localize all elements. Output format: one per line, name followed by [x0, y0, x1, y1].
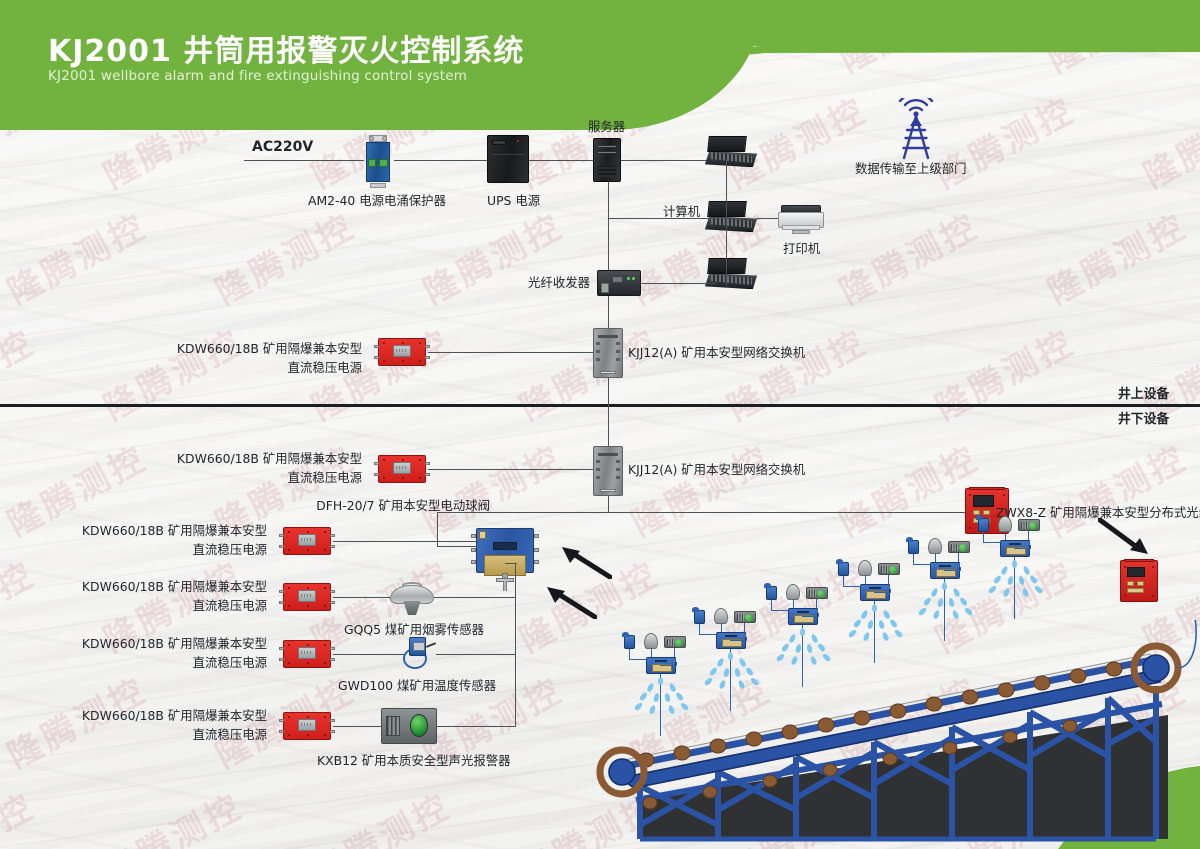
node-link-smoke: [935, 553, 936, 562]
water-droplet: [810, 633, 819, 643]
wire-converter-to-pc3: [641, 283, 716, 284]
water-droplet: [878, 620, 885, 630]
ps2-label-l2: 直流稳压电源: [55, 597, 267, 615]
node-link-temp: [699, 624, 700, 634]
underground-power-supply-0: [378, 455, 426, 483]
printer-label: 打印机: [783, 240, 820, 258]
water-droplet: [993, 574, 1002, 584]
node-alarm-icon: [734, 611, 756, 623]
wire-ps4-to-alarm: [333, 726, 382, 727]
node-smoke-sensor-icon: [998, 516, 1012, 532]
node-smoke-sensor-icon: [714, 608, 728, 624]
water-droplet: [723, 668, 730, 678]
wire-switch-to-host: [609, 512, 965, 513]
ps4-label-l2: 直流稳压电源: [55, 726, 267, 744]
node-link-alarm: [674, 648, 675, 657]
wire-temp-to-riser: [436, 654, 516, 655]
water-droplet: [716, 657, 725, 667]
ps2-label-l1: KDW660/18B 矿用隔爆兼本安型: [55, 578, 267, 596]
water-droplet: [1029, 574, 1038, 584]
water-droplet: [728, 652, 733, 660]
node-link-alarm-h: [944, 570, 961, 571]
water-droplet: [1012, 560, 1017, 568]
water-droplet: [951, 609, 959, 619]
node-link-temp-h: [629, 659, 647, 660]
ps0-label-l1: KDW660/18B 矿用隔爆兼本安型: [150, 450, 362, 468]
page-title: KJ2001 井筒用报警灭火控制系统: [48, 26, 524, 70]
above-ground-label: 井上设备: [1118, 386, 1169, 404]
node-temp-sensor-icon: [908, 540, 919, 554]
water-droplet: [675, 691, 684, 701]
water-droplet: [653, 693, 660, 703]
temp-sensor-label: GWD100 煤矿用温度传感器: [338, 677, 496, 695]
ground-level-divider: [0, 404, 1200, 407]
water-droplet: [718, 679, 726, 689]
sprinkler-node: [766, 586, 836, 696]
power-input-label: AC220V: [252, 138, 313, 156]
node-link-smoke: [1005, 531, 1006, 540]
water-droplet: [781, 642, 790, 652]
header-curve-shape: [560, 0, 1200, 131]
water-droplet: [918, 607, 928, 617]
node-link-temp: [843, 576, 844, 586]
node-alarm-icon: [806, 587, 828, 599]
ps1-label-l2: 直流稳压电源: [55, 541, 267, 559]
ball-valve-device: [476, 528, 534, 590]
water-droplet: [750, 677, 760, 687]
wire-ps1-to-valve: [333, 541, 478, 542]
water-droplet: [867, 620, 874, 630]
node-smoke-sensor-icon: [928, 538, 942, 554]
node-temp-sensor-icon: [624, 635, 635, 649]
water-droplet: [860, 609, 869, 619]
sprinkler-node: [978, 518, 1048, 628]
wire-server-to-converter: [608, 182, 609, 284]
computer-1: [705, 136, 757, 170]
wire-switch-down: [608, 496, 609, 512]
server-device: [593, 138, 621, 182]
water-droplet: [942, 582, 947, 590]
water-droplet: [1018, 576, 1025, 586]
node-link-alarm-h: [660, 665, 677, 666]
water-droplet: [745, 666, 754, 676]
node-link-alarm: [1028, 531, 1029, 540]
water-droplet: [959, 596, 968, 606]
ball-valve-label: DFH-20/7 矿用本安型电动球阀: [290, 497, 490, 515]
surface-power-supply-device: [378, 338, 426, 366]
temp-sensor-device: [402, 634, 436, 670]
sprinkler-node: [838, 562, 908, 672]
node-temp-sensor-icon: [694, 610, 705, 624]
wire-server-branch-pc2: [608, 218, 716, 219]
server-label: 服务器: [588, 118, 625, 136]
water-droplet: [882, 609, 891, 619]
wire-computer-column: [726, 160, 727, 286]
conveyor-pulley-tail: [600, 750, 644, 794]
water-droplet: [1022, 565, 1031, 575]
ps0-label-l2: 直流稳压电源: [150, 469, 362, 487]
computer-3: [705, 258, 757, 292]
surge-protector-device: [362, 134, 394, 188]
water-droplet: [822, 653, 832, 663]
water-droplet: [862, 631, 870, 641]
wire-ups-to-server: [529, 160, 594, 161]
surge-protector-label: AM2-40 电源电涌保护器: [308, 192, 446, 210]
node-alarm-icon: [1018, 519, 1040, 531]
water-droplet: [952, 587, 961, 597]
node-alarm-icon: [664, 636, 686, 648]
ps4-label-l1: KDW660/18B 矿用隔爆兼本安型: [55, 707, 267, 725]
fiber-converter-device: [597, 270, 641, 296]
wire-server-to-pc1: [621, 160, 716, 161]
water-droplet: [646, 682, 655, 692]
node-link-alarm: [744, 623, 745, 632]
callout-arrow-right: [1098, 518, 1150, 556]
smoke-sensor-device: [390, 575, 434, 619]
water-droplet: [1034, 585, 1044, 595]
wire-ps2-to-smoke: [333, 597, 393, 598]
fiber-converter-label: 光纤收发器: [460, 274, 590, 292]
water-droplet: [872, 604, 877, 612]
page-header: KJ2001 井筒用报警灭火控制系统 KJ2001 wellbore alarm…: [0, 0, 1200, 131]
water-droplet: [639, 691, 648, 701]
wire-alarm-to-riser: [437, 726, 516, 727]
water-droplet: [790, 655, 798, 665]
ps1-label-l1: KDW660/18B 矿用隔爆兼本安型: [55, 522, 267, 540]
page-subtitle: KJ2001 wellbore alarm and fire extinguis…: [48, 68, 467, 84]
belt-head-host-device: [1120, 560, 1158, 602]
water-droplet: [680, 702, 690, 712]
node-link-alarm: [888, 575, 889, 584]
node-link-temp: [983, 532, 984, 542]
sprinkler-node: [624, 635, 694, 745]
water-droplet: [1000, 565, 1009, 575]
node-link-temp-h: [843, 586, 861, 587]
surface-power-supply-label-l2: 直流稳压电源: [150, 359, 362, 377]
alarm-label: KXB12 矿用本质安全型声光报警器: [317, 752, 511, 770]
water-droplet: [795, 644, 802, 654]
water-droplet: [709, 666, 718, 676]
water-droplet: [806, 644, 813, 654]
antenna-tower-icon: [890, 98, 942, 160]
water-droplet: [737, 679, 745, 689]
water-droplet: [788, 633, 797, 643]
surface-network-switch: [593, 328, 623, 378]
node-link-alarm: [816, 599, 817, 608]
water-droplet: [776, 653, 786, 663]
node-smoke-sensor-icon: [858, 560, 872, 576]
wire-smoke-to-riser: [434, 597, 516, 598]
node-link-smoke: [865, 575, 866, 584]
node-link-temp: [629, 649, 630, 659]
water-droplet: [937, 598, 944, 608]
ps3-label-l2: 直流稳压电源: [55, 654, 267, 672]
diagram-canvas: 隆腾测控隆腾测控隆腾测控隆腾测控隆腾测控隆腾测控隆腾测控隆腾测控隆腾测控隆腾测控…: [0, 0, 1200, 849]
water-droplet: [734, 668, 741, 678]
sprinkler-node: [908, 540, 978, 650]
water-droplet: [988, 585, 998, 595]
water-droplet: [894, 629, 904, 639]
callout-arrow-left-upper: [560, 545, 612, 579]
water-droplet: [738, 657, 747, 667]
water-droplet: [853, 618, 862, 628]
water-droplet: [932, 609, 940, 619]
water-droplet: [1002, 587, 1010, 597]
node-link-alarm-h: [1014, 548, 1031, 549]
water-droplet: [889, 618, 898, 628]
node-link-temp: [913, 554, 914, 564]
node-link-smoke: [793, 599, 794, 608]
node-temp-sensor-icon: [978, 518, 989, 532]
surface-switch-label: KJJ12(A) 矿用本安型网络交换机: [628, 344, 805, 362]
node-smoke-sensor-icon: [644, 633, 658, 649]
wire-sensor-collector-riser: [515, 563, 516, 727]
node-link-temp-h: [771, 610, 789, 611]
water-droplet: [964, 607, 974, 617]
water-droplet: [848, 629, 858, 639]
node-alarm-icon: [878, 563, 900, 575]
wire-surface-ps-to-switch: [428, 352, 593, 353]
node-alarm-icon: [948, 541, 970, 553]
node-link-smoke: [651, 648, 652, 657]
uplink-label: 数据传输至上级部门: [855, 160, 967, 178]
printer-device: [778, 205, 824, 235]
water-droplet: [1007, 576, 1014, 586]
below-ground-label: 井下设备: [1118, 411, 1169, 429]
underground-switch-label: KJJ12(A) 矿用本安型网络交换机: [628, 461, 805, 479]
water-droplet: [704, 677, 714, 687]
wire-trunk-surface-to-underground: [608, 378, 609, 448]
ps3-label-l1: KDW660/18B 矿用隔爆兼本安型: [55, 635, 267, 653]
node-link-smoke: [721, 623, 722, 632]
underground-power-supply-1: [283, 527, 331, 555]
wire-valve-to-collector: [505, 563, 517, 564]
underground-power-supply-3: [283, 640, 331, 668]
water-droplet: [800, 628, 805, 636]
wire-surge-to-ups: [394, 160, 488, 161]
node-link-alarm-h: [730, 640, 747, 641]
water-droplet: [658, 677, 663, 685]
water-droplet: [668, 682, 677, 692]
alarm-device: [381, 708, 437, 744]
node-link-temp: [771, 600, 772, 610]
node-link-temp-h: [983, 542, 1001, 543]
water-droplet: [634, 702, 644, 712]
wire-valve-left-feed: [437, 546, 477, 547]
node-link-alarm-h: [874, 592, 891, 593]
water-droplet: [664, 693, 671, 703]
water-droplet: [948, 598, 955, 608]
node-link-alarm-h: [802, 616, 819, 617]
water-droplet: [817, 642, 826, 652]
ups-label: UPS 电源: [487, 192, 540, 210]
water-droplet: [881, 631, 889, 641]
node-link-temp-h: [699, 634, 717, 635]
node-link-alarm: [958, 553, 959, 562]
water-droplet: [648, 704, 656, 714]
wire-ac-to-surge: [244, 160, 364, 161]
surface-power-supply-label-l1: KDW660/18B 矿用隔爆兼本安型: [150, 340, 362, 358]
sprinkler-node: [694, 610, 764, 720]
water-droplet: [930, 587, 939, 597]
underground-network-switch: [593, 446, 623, 496]
wire-converter-to-switch: [608, 296, 609, 330]
wire-ps3-to-temp: [333, 654, 405, 655]
water-droplet: [667, 704, 675, 714]
water-droplet: [1021, 587, 1029, 597]
node-temp-sensor-icon: [838, 562, 849, 576]
node-link-temp-h: [913, 564, 931, 565]
callout-arrow-left-lower: [545, 585, 597, 619]
wire-ps0-to-switch: [428, 469, 593, 470]
underground-power-supply-2: [283, 583, 331, 611]
node-temp-sensor-icon: [766, 586, 777, 600]
water-droplet: [923, 596, 932, 606]
water-droplet: [809, 655, 817, 665]
ups-device: [487, 135, 529, 183]
node-smoke-sensor-icon: [786, 584, 800, 600]
underground-power-supply-4: [283, 712, 331, 740]
